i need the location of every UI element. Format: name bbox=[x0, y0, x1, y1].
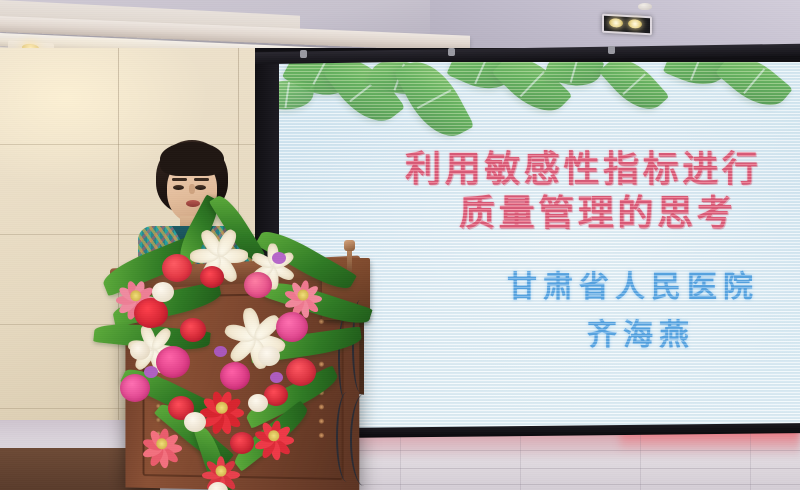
carnation-flower bbox=[156, 346, 190, 378]
orchid-filler bbox=[272, 252, 286, 264]
carnation-flower bbox=[276, 312, 308, 342]
orchid-filler bbox=[270, 372, 283, 383]
speaker-nose bbox=[189, 184, 195, 194]
speaker-eyebrow bbox=[194, 178, 209, 181]
rose-flower bbox=[200, 266, 224, 288]
floor-tile-line bbox=[520, 430, 521, 490]
rose-flower bbox=[230, 432, 254, 454]
screen-mount-clip bbox=[300, 50, 307, 58]
recessed-double-spotlight-icon bbox=[602, 14, 652, 36]
orchid-filler bbox=[214, 346, 227, 357]
carnation-flower bbox=[244, 272, 272, 298]
conference-photo: 利用敏感性指标进行 质量管理的思考 甘肃省人民医院 齐海燕 bbox=[0, 0, 800, 490]
rose-flower bbox=[180, 318, 206, 342]
gerbera-flower bbox=[140, 422, 184, 466]
white-filler-flower bbox=[130, 342, 150, 360]
speaker-eye bbox=[173, 185, 184, 190]
slide-title-line-2: 质量管理的思考 bbox=[459, 184, 736, 236]
white-filler-flower bbox=[184, 412, 206, 432]
carnation-flower bbox=[286, 358, 316, 386]
smoke-detector-icon bbox=[638, 3, 652, 10]
gerbera-flower bbox=[282, 274, 324, 316]
carnation-flower bbox=[134, 298, 168, 328]
white-filler-flower bbox=[248, 394, 268, 412]
flower-bouquet bbox=[104, 196, 374, 490]
carnation-flower bbox=[120, 374, 150, 402]
carnation-flower bbox=[162, 254, 192, 282]
carnation-flower bbox=[220, 362, 250, 390]
screen-mount-clip bbox=[608, 46, 615, 54]
speaker-eyebrow bbox=[172, 178, 187, 181]
floor-tile-line bbox=[640, 430, 641, 490]
screen-mount-clip bbox=[448, 48, 455, 56]
gerbera-flower bbox=[252, 414, 296, 458]
slide-subtitle-line-1: 甘肃省人民医院 bbox=[507, 262, 759, 306]
white-filler-flower bbox=[258, 346, 280, 366]
slide-subtitle-line-2: 齐海燕 bbox=[587, 310, 695, 354]
orchid-filler bbox=[144, 366, 158, 378]
floor-tile-line bbox=[750, 430, 751, 490]
floor-tile-line bbox=[400, 430, 401, 490]
speaker-eye bbox=[195, 185, 206, 190]
white-filler-flower bbox=[152, 282, 174, 302]
speaker-hair-fringe bbox=[160, 142, 224, 176]
